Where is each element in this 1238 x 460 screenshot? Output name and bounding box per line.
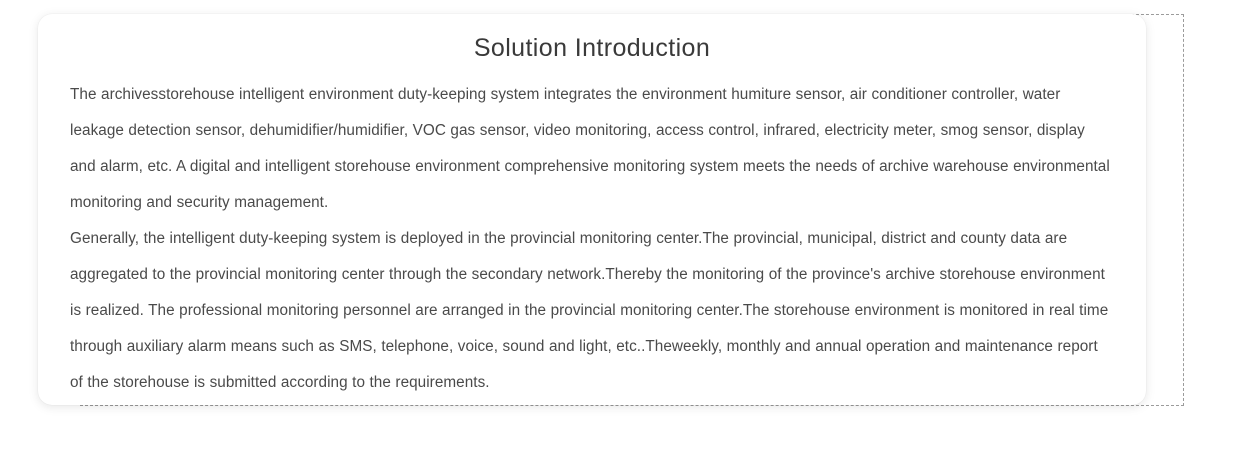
- solution-introduction-card: Solution Introduction The archivesstoreh…: [38, 14, 1146, 405]
- page-root: Solution Introduction The archivesstoreh…: [0, 0, 1238, 460]
- intro-paragraph-2: Generally, the intelligent duty-keeping …: [38, 221, 1146, 401]
- page-title: Solution Introduction: [38, 14, 1146, 65]
- intro-paragraph-1: The archivesstorehouse intelligent envir…: [38, 77, 1146, 221]
